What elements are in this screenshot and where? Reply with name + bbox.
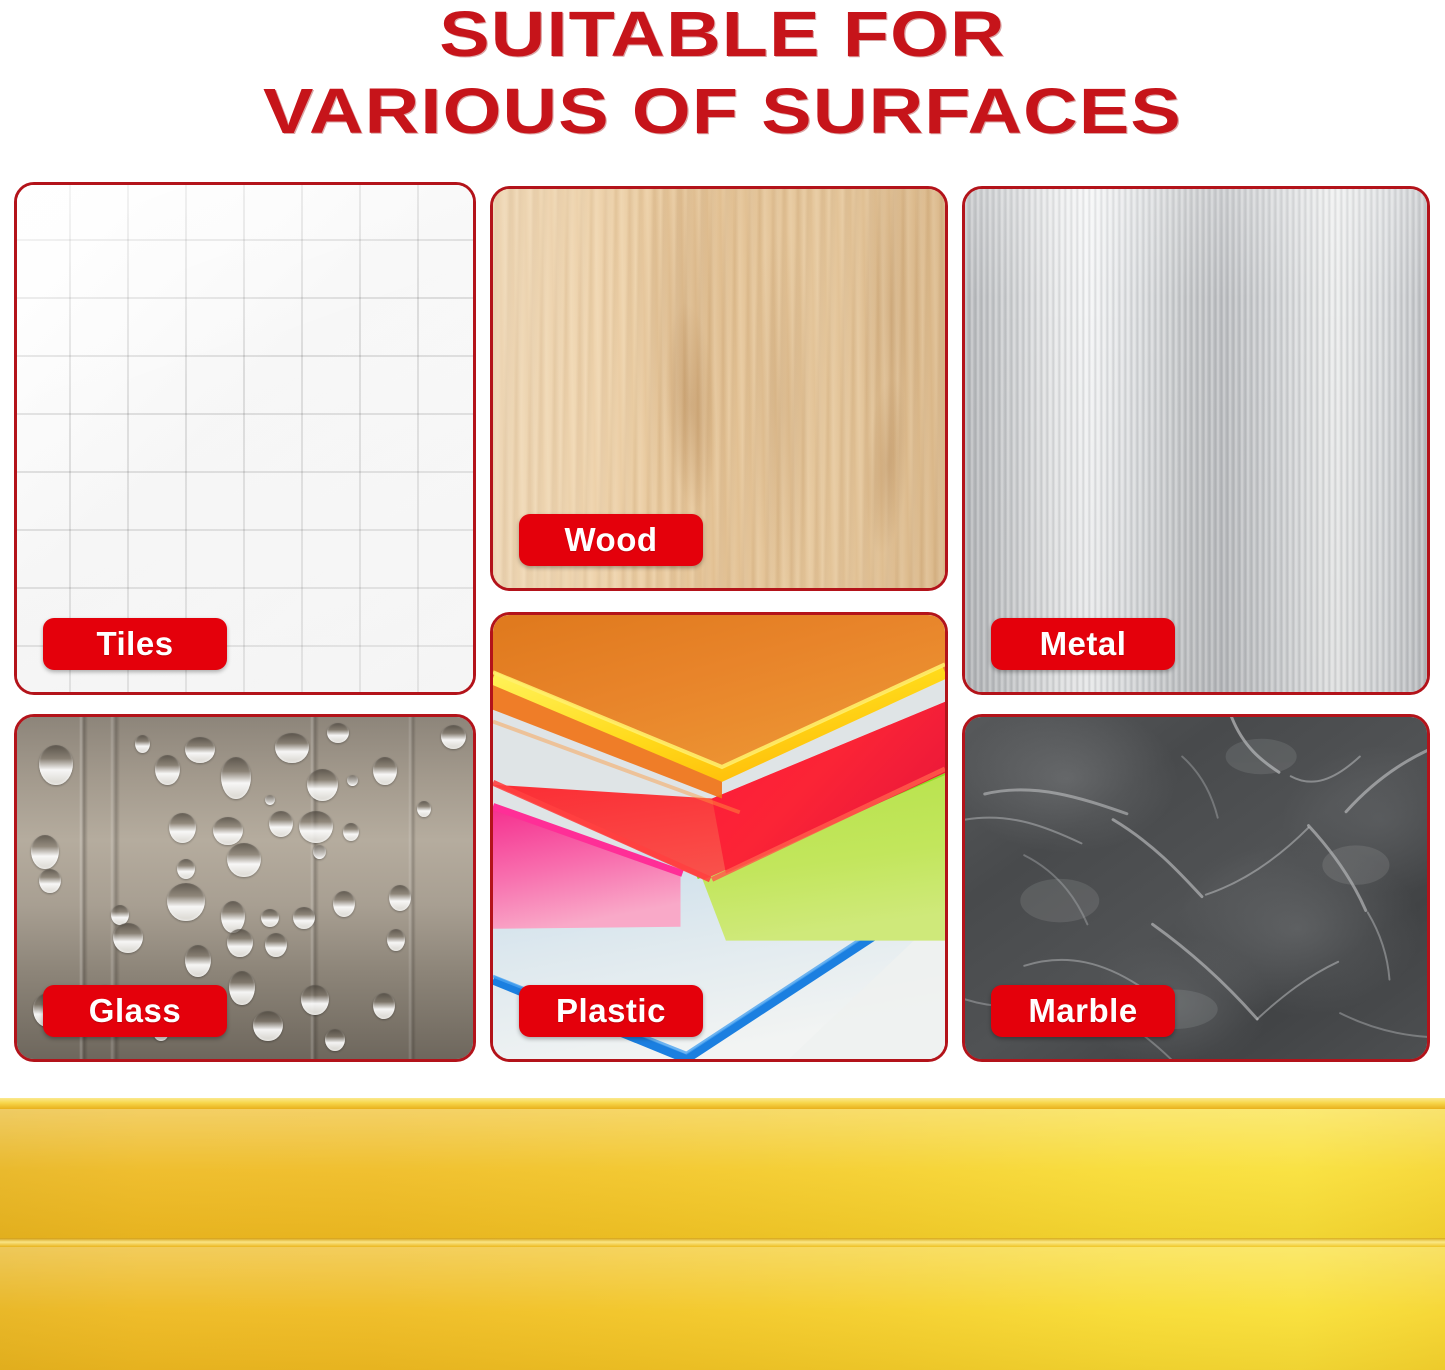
water-droplet [389,885,411,911]
water-droplet [265,795,275,805]
water-droplet [39,745,73,785]
surface-label-metal-text: Metal [1040,625,1127,663]
water-droplet [265,933,287,957]
surface-label-metal: Metal [991,618,1175,670]
surface-panel-wood: Wood [490,186,948,591]
water-droplet [167,883,205,921]
product-bar-seam [0,1238,1445,1247]
water-droplet [113,923,143,953]
water-droplet [213,817,243,845]
water-droplet [325,1029,345,1051]
surface-panel-metal: Metal [962,186,1430,695]
surface-label-tiles: Tiles [43,618,227,670]
water-droplet [221,757,251,799]
metal-texture [965,189,1427,692]
water-droplet [169,813,196,843]
water-droplet [307,769,338,801]
surface-label-glass-text: Glass [89,992,181,1030]
water-droplet [327,723,349,743]
surface-panel-glass: Glass [14,714,476,1062]
water-droplet [31,835,59,869]
title-line-2: VARIOUS OF SURFACES [0,65,1445,142]
water-droplet [373,757,397,785]
water-droplet [185,945,211,977]
surface-panel-plastic: Plastic [490,612,948,1062]
water-droplet [39,869,61,893]
surface-label-plastic: Plastic [519,985,703,1037]
surface-label-tiles-text: Tiles [96,625,173,663]
water-droplet [227,929,253,957]
water-droplet [373,993,395,1019]
tiles-sheen [17,185,473,692]
product-bar-upper-gloss [0,1109,1445,1238]
water-droplet [313,845,326,859]
water-droplet [441,725,466,749]
surface-panel-marble: Marble [962,714,1430,1062]
surface-label-wood-text: Wood [564,521,657,559]
water-droplet [227,843,261,877]
metal-sheen [965,189,1427,692]
water-droplet [135,735,150,753]
page-title: SUITABLE FOR VARIOUS OF SURFACES [0,0,1445,172]
product-bar-top-lip [0,1098,1445,1109]
water-droplet [343,823,359,841]
surface-label-wood: Wood [519,514,703,566]
surface-panel-tiles: Tiles [14,182,476,695]
water-droplet [417,801,431,817]
tiles-texture [17,185,473,692]
water-droplet [177,859,195,879]
water-droplet [111,905,129,925]
surface-label-glass: Glass [43,985,227,1037]
water-droplet [299,811,333,843]
water-droplet [301,985,329,1015]
title-line-1: SUITABLE FOR [0,0,1445,65]
water-droplet [333,891,355,917]
surface-label-plastic-text: Plastic [556,992,666,1030]
water-droplet [269,811,293,837]
product-bar-lower-gloss [0,1247,1445,1370]
water-droplet [261,909,279,927]
water-droplet [293,907,315,929]
water-droplet [387,929,405,951]
water-droplet [347,775,358,786]
water-droplet [229,971,255,1005]
product-bar-yellow-squeegee [0,1098,1445,1370]
water-droplet [275,733,309,763]
surface-label-marble: Marble [991,985,1175,1037]
water-droplet [253,1011,283,1041]
water-droplet [155,755,180,785]
surface-label-marble-text: Marble [1028,992,1137,1030]
water-droplet [185,737,215,763]
